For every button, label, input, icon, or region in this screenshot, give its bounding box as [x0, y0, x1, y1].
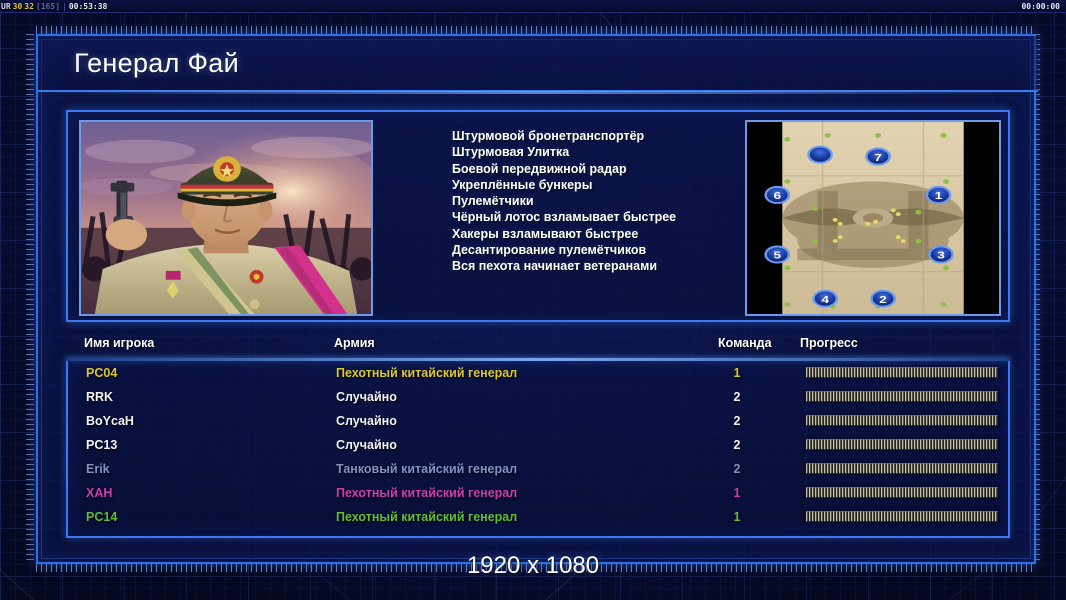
player-progress-bar — [806, 511, 998, 522]
ability-item: Штурмовой бронетранспортёр — [452, 128, 752, 144]
column-header-army: Армия — [334, 336, 375, 350]
player-army: Случайно — [336, 414, 397, 428]
svg-text:4: 4 — [821, 293, 829, 305]
svg-text:5: 5 — [773, 249, 781, 261]
hud-session-clock: 00:53:38 — [69, 2, 108, 11]
ability-item: Вся пехота начинает ветеранами — [452, 258, 752, 274]
ability-item: Боевой передвижной радар — [452, 161, 752, 177]
table-row[interactable]: ErikТанковый китайский генерал2 — [68, 457, 1008, 481]
svg-text:2: 2 — [879, 293, 887, 305]
player-army: Пехотный китайский генерал — [336, 366, 517, 380]
ability-item: Штурмовая Улитка — [452, 144, 752, 160]
player-name: PC04 — [86, 366, 117, 380]
general-portrait — [79, 120, 373, 316]
map-start-position: 4 — [814, 291, 837, 307]
player-team: 1 — [726, 510, 748, 524]
hud-label-ur: UR — [1, 2, 11, 11]
player-name: PC14 — [86, 510, 117, 524]
player-progress-bar — [806, 487, 998, 498]
page-title: Генерал Фай — [74, 48, 239, 79]
hud-separator: | — [62, 2, 67, 11]
player-progress-bar — [806, 391, 998, 402]
svg-text:6: 6 — [773, 190, 781, 202]
column-header-progress: Прогресс — [800, 336, 858, 350]
hud-value-second: 32 — [24, 2, 34, 11]
player-army: Пехотный китайский генерал — [336, 510, 517, 524]
resolution-label: 1920 x 1080 — [0, 552, 1066, 580]
player-name: BoYcaH — [86, 414, 134, 428]
table-row[interactable]: PC13Случайно2 — [68, 433, 1008, 457]
ability-item: Укреплённые бункеры — [452, 177, 752, 193]
player-team: 2 — [726, 390, 748, 404]
hud-bracket: [165] — [36, 2, 60, 11]
table-row[interactable]: PC04Пехотный китайский генерал1 — [68, 361, 1008, 385]
ability-item: Чёрный лотос взламывает быстрее — [452, 209, 752, 225]
hud-top-bar: UR 30 32 [165] | 00:53:38 00:00:00 — [0, 0, 1066, 13]
player-table: PC04Пехотный китайский генерал1RRKСлучай… — [66, 361, 1010, 538]
player-team: 1 — [726, 486, 748, 500]
svg-text:7: 7 — [874, 151, 882, 163]
table-header-row: Имя игрока Армия Команда Прогресс — [38, 336, 1038, 358]
ability-item: Десантирование пулемётчиков — [452, 242, 752, 258]
player-team: 2 — [726, 438, 748, 452]
table-row[interactable]: PC14Пехотный китайский генерал1 — [68, 505, 1008, 529]
svg-text:3: 3 — [937, 249, 945, 261]
game-menu-screen: UR 30 32 [165] | 00:53:38 00:00:00 Генер… — [0, 0, 1066, 600]
ability-item: Хакеры взламывают быстрее — [452, 226, 752, 242]
column-header-team: Команда — [718, 336, 772, 350]
map-start-position — [808, 147, 831, 163]
map-start-position: 5 — [766, 246, 789, 262]
player-team: 2 — [726, 414, 748, 428]
table-row[interactable]: BoYcaHСлучайно2 — [68, 409, 1008, 433]
main-panel: Генерал Фай — [36, 34, 1036, 564]
player-name: Erik — [86, 462, 110, 476]
general-info-box: Штурмовой бронетранспортёр Штурмовая Ули… — [66, 110, 1010, 322]
column-header-player-name: Имя игрока — [84, 336, 154, 350]
player-progress-bar — [806, 415, 998, 426]
player-army: Пехотный китайский генерал — [336, 486, 517, 500]
map-start-position: 1 — [927, 187, 950, 203]
svg-text:1: 1 — [935, 190, 943, 202]
map-start-position: 7 — [866, 148, 889, 164]
map-preview-image: 7615342 — [747, 122, 999, 314]
ruler-strip-top — [36, 26, 1036, 34]
player-progress-bar — [806, 463, 998, 474]
general-portrait-image — [81, 122, 371, 314]
ability-list: Штурмовой бронетранспортёр Штурмовая Ули… — [452, 128, 752, 275]
player-army: Случайно — [336, 390, 397, 404]
player-team: 2 — [726, 462, 748, 476]
hud-right-clock: 00:00:00 — [1021, 2, 1066, 11]
ruler-strip-left — [26, 34, 34, 564]
player-army: Танковый китайский генерал — [336, 462, 517, 476]
player-rows: PC04Пехотный китайский генерал1RRKСлучай… — [68, 361, 1008, 529]
ability-item: Пулемётчики — [452, 193, 752, 209]
player-team: 1 — [726, 366, 748, 380]
title-band: Генерал Фай — [38, 36, 1038, 92]
player-army: Случайно — [336, 438, 397, 452]
map-start-position: 6 — [766, 187, 789, 203]
player-progress-bar — [806, 367, 998, 378]
player-progress-bar — [806, 439, 998, 450]
hud-stats: UR 30 32 [165] | 00:53:38 — [0, 2, 107, 11]
map-start-position: 3 — [929, 246, 952, 262]
table-row[interactable]: XAHПехотный китайский генерал1 — [68, 481, 1008, 505]
player-name: RRK — [86, 390, 113, 404]
hud-value-fps: 30 — [13, 2, 23, 11]
player-name: PC13 — [86, 438, 117, 452]
map-start-position: 2 — [871, 291, 894, 307]
player-name: XAH — [86, 486, 112, 500]
map-preview[interactable]: 7615342 — [745, 120, 1001, 316]
table-row[interactable]: RRKСлучайно2 — [68, 385, 1008, 409]
